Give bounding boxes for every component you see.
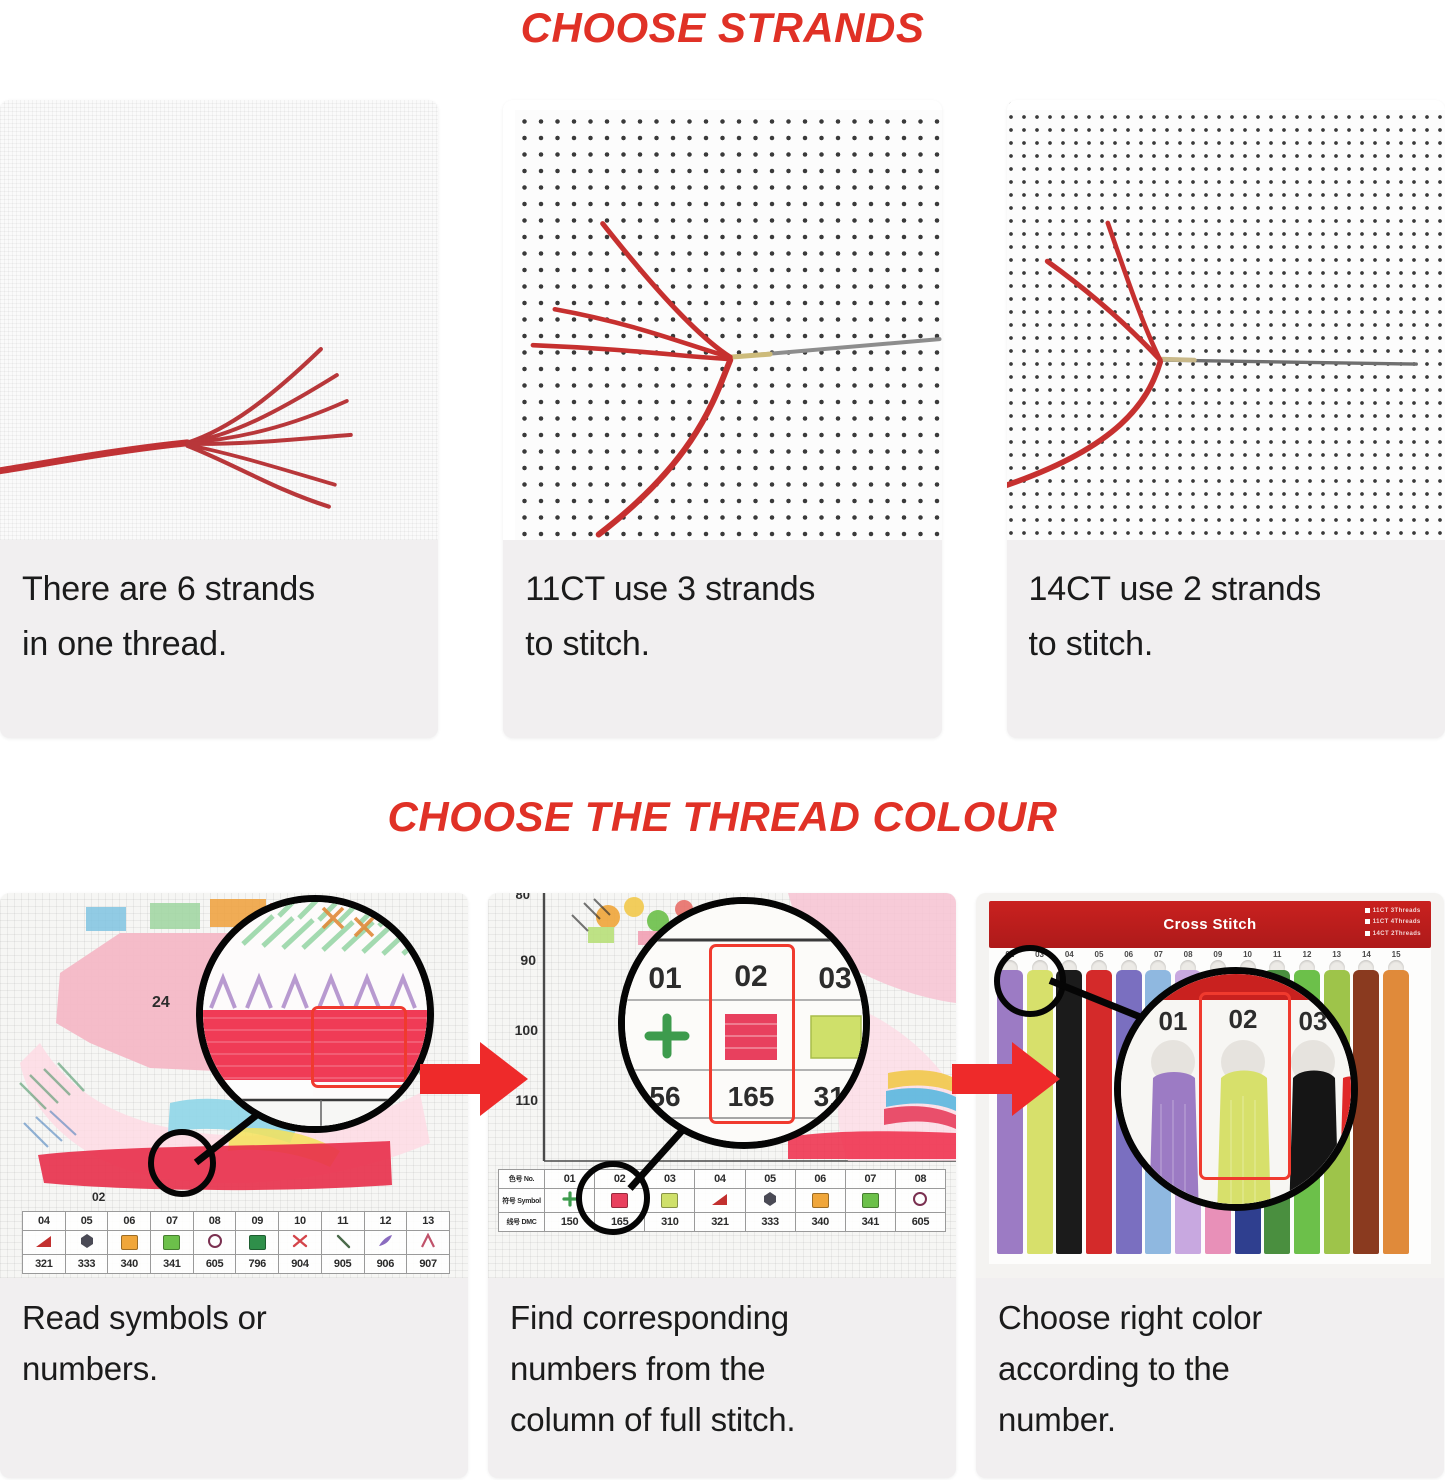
floss-skein-number: 15	[1381, 950, 1411, 959]
full-stitch-legend-table: 色号 No.0102030405060708 符号 Symbol 线号 DMC1…	[498, 1169, 946, 1232]
legend-symbol	[795, 1189, 845, 1213]
legend-row-symbols	[23, 1231, 450, 1255]
floss-skein-number: 11	[1262, 950, 1292, 959]
legend-column-number: 04	[695, 1170, 745, 1189]
legend-column-number: 07	[151, 1212, 194, 1231]
photo-six-strands	[0, 100, 438, 540]
organizer-option: 11CT 3Threads	[1365, 906, 1421, 917]
legend-symbol	[151, 1231, 194, 1255]
spacer	[438, 100, 503, 740]
magnifier-lens: 6 07	[196, 895, 434, 1133]
floss-skein-number: 07	[1144, 950, 1174, 959]
legend-symbol	[745, 1189, 795, 1213]
legend-row-dmc-numbers: 321333340341605796904905906907	[23, 1255, 450, 1274]
legend-column-number: 13	[407, 1212, 450, 1231]
legend-symbol	[236, 1231, 279, 1255]
legend-column-number: 05	[65, 1212, 108, 1231]
legend-row-column-numbers: 04050607080910111213	[23, 1212, 450, 1231]
magnifier-lens: 01 02 03 56 165	[618, 897, 870, 1149]
legend-column-number: 08	[895, 1170, 945, 1189]
mag-dmc-01: 56	[649, 1081, 680, 1112]
caption-line-1: Choose right color	[998, 1292, 1424, 1343]
legend-symbol	[364, 1231, 407, 1255]
caption-six-strands: There are 6 strands in one thread.	[0, 540, 438, 738]
section-title-choose-strands: CHOOSE STRANDS	[0, 4, 1445, 52]
legend-dmc-number: 904	[279, 1255, 322, 1274]
section-title-choose-thread-colour: CHOOSE THE THREAD COLOUR	[0, 793, 1445, 841]
caption-line-1: Read symbols or	[22, 1292, 448, 1343]
legend-symbol	[321, 1231, 364, 1255]
caption-14ct: 14CT use 2 strands to stitch.	[1007, 540, 1445, 738]
legend-symbol	[108, 1231, 151, 1255]
floss-skein-number: 14	[1352, 950, 1382, 959]
floss-skein-number: 08	[1173, 950, 1203, 959]
legend-row-symbols: 符号 Symbol	[499, 1189, 946, 1213]
spacer	[956, 893, 976, 1480]
colour-step-row: 24 02 04050607080910111213 3213333403416…	[0, 893, 1445, 1480]
chart-legend-table: 04050607080910111213 3213333403416057969…	[22, 1211, 450, 1274]
step-card-choose-color: Cross Stitch 11CT 3Threads11CT 4Threads1…	[976, 893, 1444, 1478]
photo-pattern-chart: 24 02 04050607080910111213 3213333403416…	[0, 893, 468, 1278]
floss-skein-number: 05	[1084, 950, 1114, 959]
organizer-card-options: 11CT 3Threads11CT 4Threads14CT 2Threads	[1365, 906, 1421, 940]
svg-text:02: 02	[92, 1190, 106, 1204]
organizer-card-title: Cross Stitch	[1163, 916, 1256, 933]
caption-choose-color: Choose right color according to the numb…	[976, 1278, 1444, 1478]
caption-find-numbers: Find corresponding numbers from the colu…	[488, 1278, 956, 1478]
legend-column-number: 07	[845, 1170, 895, 1189]
highlight-box	[311, 1006, 407, 1088]
floss-skein-number: 04	[1054, 950, 1084, 959]
floss-skein-number: 10	[1233, 950, 1263, 959]
legend-column-number: 03	[645, 1170, 695, 1189]
legend-column-number: 09	[236, 1212, 279, 1231]
legend-dmc-number: 321	[695, 1213, 745, 1232]
floss-bundle	[1353, 970, 1379, 1254]
mag-col-01: 01	[648, 962, 681, 995]
legend-symbol	[65, 1231, 108, 1255]
legend-dmc-number: 605	[193, 1255, 236, 1274]
legend-dmc-number: 340	[108, 1255, 151, 1274]
caption-line-1: 14CT use 2 strands	[1029, 562, 1425, 617]
mag-skein-label-01: 01	[1159, 1006, 1188, 1036]
infographic-page: CHOOSE STRANDS	[0, 0, 1445, 1480]
legend-dmc-number: 796	[236, 1255, 279, 1274]
six-strand-illustration	[0, 100, 438, 538]
legend-column-number: 10	[279, 1212, 322, 1231]
legend-dmc-number: 905	[321, 1255, 364, 1274]
legend-column-number: 08	[193, 1212, 236, 1231]
highlight-box	[709, 944, 795, 1124]
floss-skein-number: 12	[1292, 950, 1322, 959]
legend-symbol	[23, 1231, 66, 1255]
legend-dmc-number: 340	[795, 1213, 845, 1232]
photo-14ct-aida	[1007, 100, 1445, 540]
step-card-14ct: 14CT use 2 strands to stitch.	[1007, 100, 1445, 738]
spacer	[468, 893, 488, 1480]
organizer-option: 14CT 2Threads	[1365, 929, 1421, 940]
spacer	[942, 100, 1007, 740]
legend-row-header: 线号 DMC	[499, 1213, 545, 1232]
floss-skein-number: 13	[1322, 950, 1352, 959]
mag-skein-label-03: 03	[1299, 1006, 1328, 1036]
legend-row-header: 色号 No.	[499, 1170, 545, 1189]
mag-symbol-green-square	[811, 1016, 861, 1058]
caption-read-symbols: Read symbols or numbers.	[0, 1278, 468, 1478]
legend-symbol	[193, 1231, 236, 1255]
magnifier-focus-circle	[148, 1129, 216, 1197]
legend-row-column-numbers: 色号 No.0102030405060708	[499, 1170, 946, 1189]
legend-symbol	[695, 1189, 745, 1213]
legend-column-number: 05	[745, 1170, 795, 1189]
strands-step-row: There are 6 strands in one thread.	[0, 100, 1445, 740]
caption-line-2: according to the	[998, 1343, 1424, 1394]
step-card-find-numbers: 80 90 100 110 色号 No.0102030405060708 符号 …	[488, 893, 956, 1478]
legend-dmc-number: 310	[645, 1213, 695, 1232]
row-label-80: 80	[516, 893, 530, 902]
caption-line-1: Find corresponding	[510, 1292, 936, 1343]
legend-dmc-number: 333	[65, 1255, 108, 1274]
caption-line-1: 11CT use 3 strands	[525, 562, 921, 617]
step-card-six-strands: There are 6 strands in one thread.	[0, 100, 438, 738]
legend-symbol	[645, 1189, 695, 1213]
legend-symbol	[845, 1189, 895, 1213]
caption-line-2: numbers from the	[510, 1343, 936, 1394]
caption-line-3: column of full stitch.	[510, 1394, 936, 1445]
legend-column-number: 04	[23, 1212, 66, 1231]
caption-line-1: There are 6 strands	[22, 562, 418, 617]
legend-row-header: 符号 Symbol	[499, 1189, 545, 1213]
svg-text:24: 24	[152, 994, 170, 1011]
legend-dmc-number: 333	[745, 1213, 795, 1232]
legend-symbol	[407, 1231, 450, 1255]
mag-col-03: 03	[818, 962, 851, 995]
legend-dmc-number: 605	[895, 1213, 945, 1232]
legend-column-number: 11	[321, 1212, 364, 1231]
caption-line-2: in one thread.	[22, 617, 418, 672]
step-card-11ct: 11CT use 3 strands to stitch.	[503, 100, 941, 738]
next-step-arrow-2	[950, 1036, 1062, 1122]
legend-column-number: 06	[795, 1170, 845, 1189]
caption-11ct: 11CT use 3 strands to stitch.	[503, 540, 941, 738]
organizer-card-header: Cross Stitch 11CT 3Threads11CT 4Threads1…	[989, 901, 1431, 948]
caption-line-2: to stitch.	[1029, 617, 1425, 672]
caption-line-2: to stitch.	[525, 617, 921, 672]
caption-line-3: number.	[998, 1394, 1424, 1445]
row-label-90: 90	[520, 952, 536, 968]
legend-dmc-number: 341	[151, 1255, 194, 1274]
legend-dmc-number: 321	[23, 1255, 66, 1274]
legend-row-dmc-numbers: 线号 DMC150165310321333340341605	[499, 1213, 946, 1232]
legend-dmc-number: 341	[845, 1213, 895, 1232]
two-strand-needle-illustration	[1007, 100, 1445, 540]
magnifier-lens: 01 02 03	[1114, 967, 1358, 1211]
photo-11ct-aida	[503, 100, 941, 540]
photo-legend-chart: 80 90 100 110 色号 No.0102030405060708 符号 …	[488, 893, 956, 1278]
legend-column-number: 06	[108, 1212, 151, 1231]
floss-bundle	[1086, 970, 1112, 1254]
legend-symbol	[895, 1189, 945, 1213]
three-strand-needle-illustration	[503, 100, 941, 538]
highlight-box	[1199, 992, 1291, 1180]
floss-skein-number: 06	[1114, 950, 1144, 959]
step-card-read-symbols: 24 02 04050607080910111213 3213333403416…	[0, 893, 468, 1478]
legend-dmc-number: 907	[407, 1255, 450, 1274]
organizer-option: 11CT 4Threads	[1365, 917, 1421, 928]
legend-symbol	[279, 1231, 322, 1255]
legend-dmc-number: 906	[364, 1255, 407, 1274]
legend-column-number: 12	[364, 1212, 407, 1231]
next-step-arrow-1	[418, 1036, 530, 1122]
floss-bundle	[1383, 970, 1409, 1254]
floss-skein-number: 09	[1203, 950, 1233, 959]
caption-line-2: numbers.	[22, 1343, 448, 1394]
